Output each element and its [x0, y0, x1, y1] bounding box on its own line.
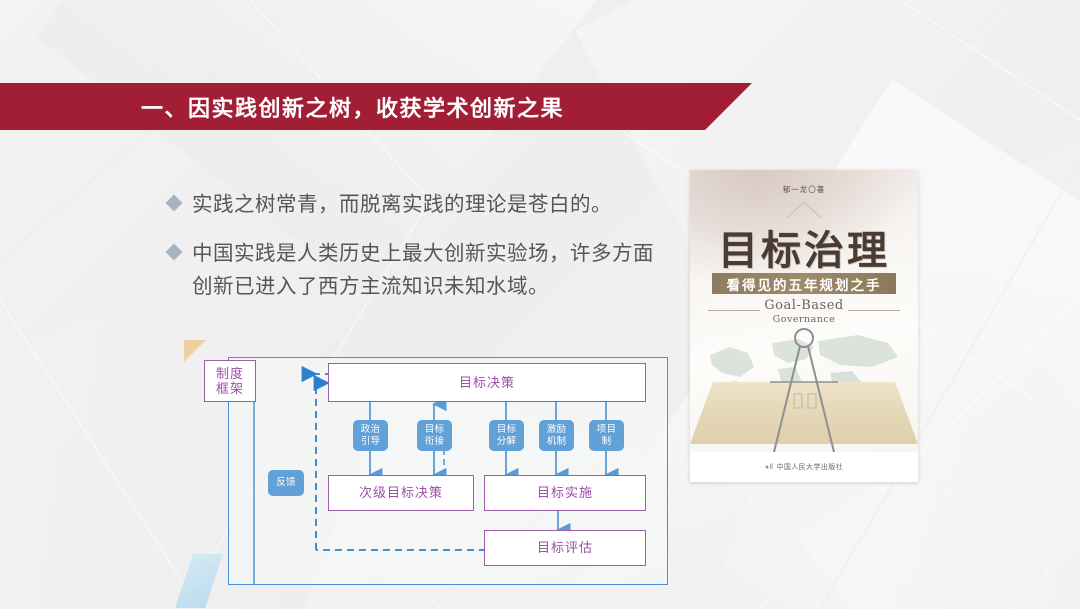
- chip-label-line2: 分解: [497, 436, 517, 447]
- goal-governance-flow-diagram: 制度 框架 目标决策 次级目标决策 目标实施 目标评估 政治 引导 目标 衔接 …: [176, 338, 678, 594]
- diagram-node-sub-goal-decision[interactable]: 次级目标决策: [328, 475, 474, 511]
- diagram-chip-feedback[interactable]: 反馈: [268, 470, 304, 496]
- drafting-compass-illustration: [756, 322, 852, 467]
- diagram-chip-goal-decomposition[interactable]: 目标 分解: [489, 420, 524, 451]
- node-label-line2: 框架: [216, 381, 244, 396]
- chip-label-line1: 项目: [597, 424, 617, 435]
- chip-label-line1: 目标: [425, 424, 445, 435]
- diagram-chip-political-guidance[interactable]: 政治 引导: [353, 420, 388, 451]
- book-title: 目标治理: [690, 218, 918, 276]
- book-cover-image: 郁一龙〇著 目标治理 看得见的五年规划之手 Goal-Based Governa…: [690, 170, 918, 482]
- bullet-text: 实践之树常青，而脱离实践的理论是苍白的。: [192, 188, 612, 221]
- slide-canvas: 一、因实践创新之树，收获学术创新之果 实践之树常青，而脱离实践的理论是苍白的。 …: [0, 0, 1080, 609]
- diagram-chip-goal-linkage[interactable]: 目标 衔接: [417, 420, 452, 451]
- diamond-bullet-icon: [166, 195, 183, 212]
- chip-label: 反馈: [276, 477, 296, 488]
- bullet-list: 实践之树常青，而脱离实践的理论是苍白的。 中国实践是人类历史上最大创新实验场，许…: [168, 188, 673, 319]
- node-label: 目标决策: [459, 375, 515, 390]
- chip-label-line2: 制: [602, 436, 612, 447]
- bullet-text: 中国实践是人类历史上最大创新实验场，许多方面创新已进入了西方主流知识未知水域。: [192, 237, 673, 303]
- diagram-chip-incentive-mechanism[interactable]: 激励 机制: [539, 420, 574, 451]
- diagram-chip-project-system[interactable]: 项目 制: [589, 420, 624, 451]
- chip-label-line1: 目标: [497, 424, 517, 435]
- book-english-title-block: Goal-Based Governance: [690, 298, 918, 325]
- chip-label-line1: 政治: [361, 424, 381, 435]
- book-publisher: ●‖中国人民大学出版社: [690, 462, 918, 472]
- book-author: 郁一龙〇著: [690, 184, 918, 195]
- book-english-title: Goal-Based: [690, 298, 918, 313]
- chip-label-line1: 激励: [547, 424, 567, 435]
- node-label-line1: 制度: [216, 366, 244, 381]
- diagram-node-goal-evaluation[interactable]: 目标评估: [484, 530, 646, 566]
- node-label: 次级目标决策: [359, 485, 443, 500]
- book-arrow-decoration: [785, 198, 823, 220]
- book-publisher-name: 中国人民大学出版社: [776, 464, 843, 471]
- diamond-bullet-icon: [166, 244, 183, 261]
- renmin-university-press-logo: ●‖: [765, 464, 774, 471]
- diagram-node-institution[interactable]: 制度 框架: [204, 360, 256, 402]
- book-subtitle: 看得见的五年规划之手: [712, 273, 896, 294]
- node-label: 目标实施: [537, 485, 593, 500]
- page-title: 一、因实践创新之树，收获学术创新之果: [0, 83, 705, 130]
- node-label: 目标评估: [537, 540, 593, 555]
- chip-label-line2: 引导: [361, 436, 381, 447]
- diagram-node-goal-implementation[interactable]: 目标实施: [484, 475, 646, 511]
- list-item: 实践之树常青，而脱离实践的理论是苍白的。: [168, 188, 673, 221]
- chip-label-line2: 衔接: [425, 436, 445, 447]
- chip-label-line2: 机制: [547, 436, 567, 447]
- list-item: 中国实践是人类历史上最大创新实验场，许多方面创新已进入了西方主流知识未知水域。: [168, 237, 673, 303]
- triangle-decoration: [184, 340, 206, 362]
- diagram-node-goal-decision[interactable]: 目标决策: [328, 363, 646, 402]
